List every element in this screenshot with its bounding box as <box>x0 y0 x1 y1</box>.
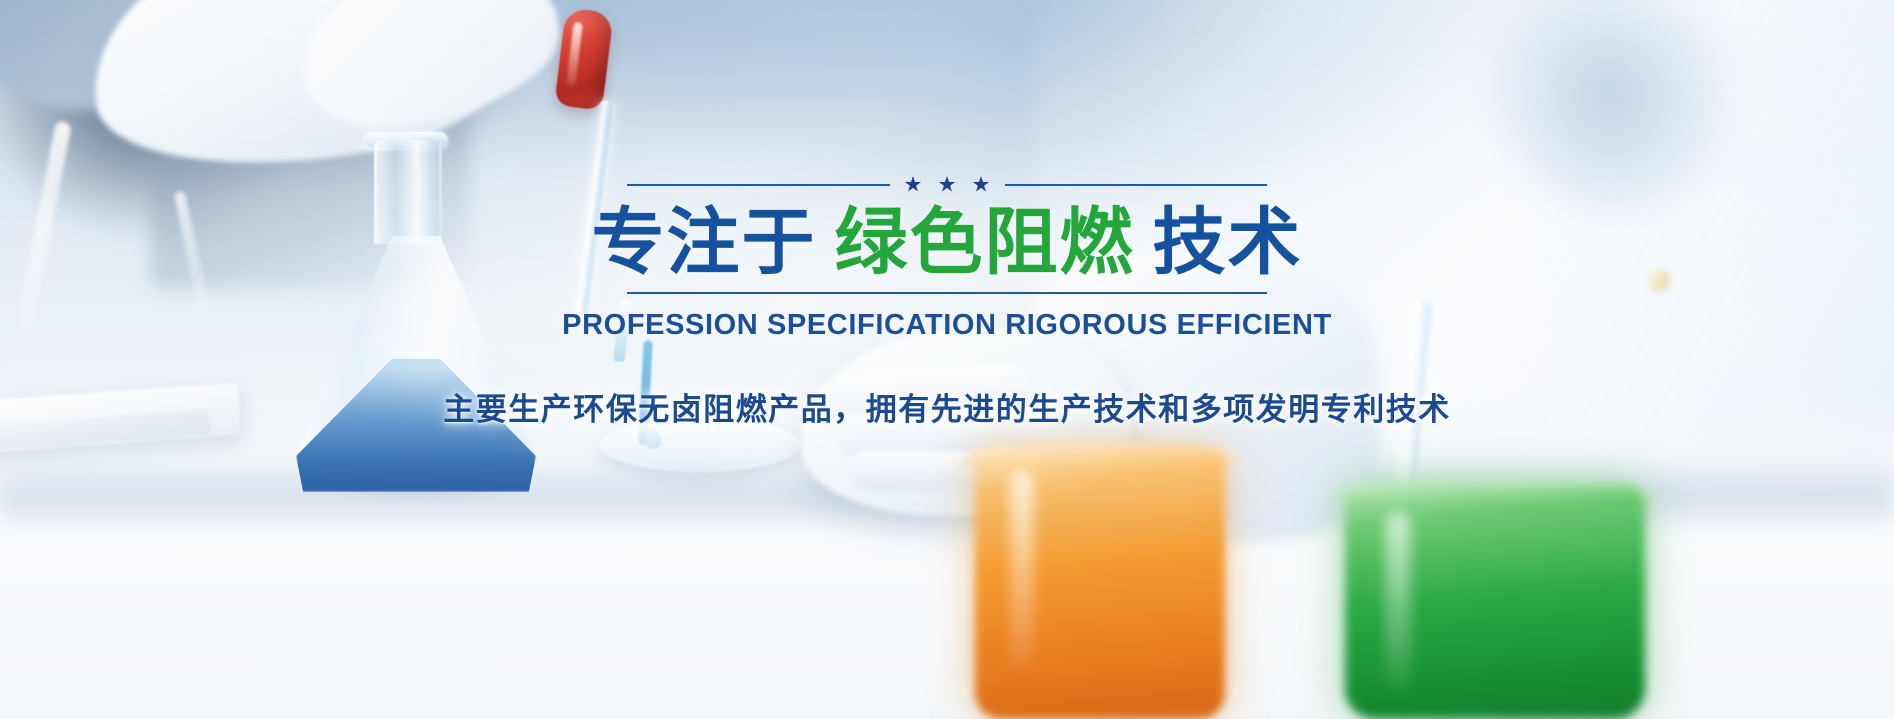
star-icon <box>973 176 990 193</box>
subtitle-english: PROFESSION SPECIFICATION RIGOROUS EFFICI… <box>562 309 1332 342</box>
star-icon <box>905 176 922 193</box>
bottom-divider-line <box>627 292 1267 294</box>
page-title: 专注于 绿色阻燃 技术 <box>592 205 1303 282</box>
headline-part-1: 专注于 <box>592 205 817 282</box>
divider-line-left <box>627 184 890 186</box>
divider-line-right <box>1005 184 1268 186</box>
star-icon <box>939 176 956 193</box>
headline-part-2: 绿色阻燃 <box>835 205 1135 282</box>
top-divider-with-stars <box>627 176 1267 193</box>
star-group <box>890 176 1005 193</box>
tagline-chinese: 主要生产环保无卤阻燃产品，拥有先进的生产技术和多项发明专利技术 <box>443 384 1451 429</box>
banner-content: 专注于 绿色阻燃 技术 PROFESSION SPECIFICATION RIG… <box>0 0 1894 719</box>
hero-banner: 专注于 绿色阻燃 技术 PROFESSION SPECIFICATION RIG… <box>0 0 1894 719</box>
headline-part-3: 技术 <box>1153 205 1303 282</box>
